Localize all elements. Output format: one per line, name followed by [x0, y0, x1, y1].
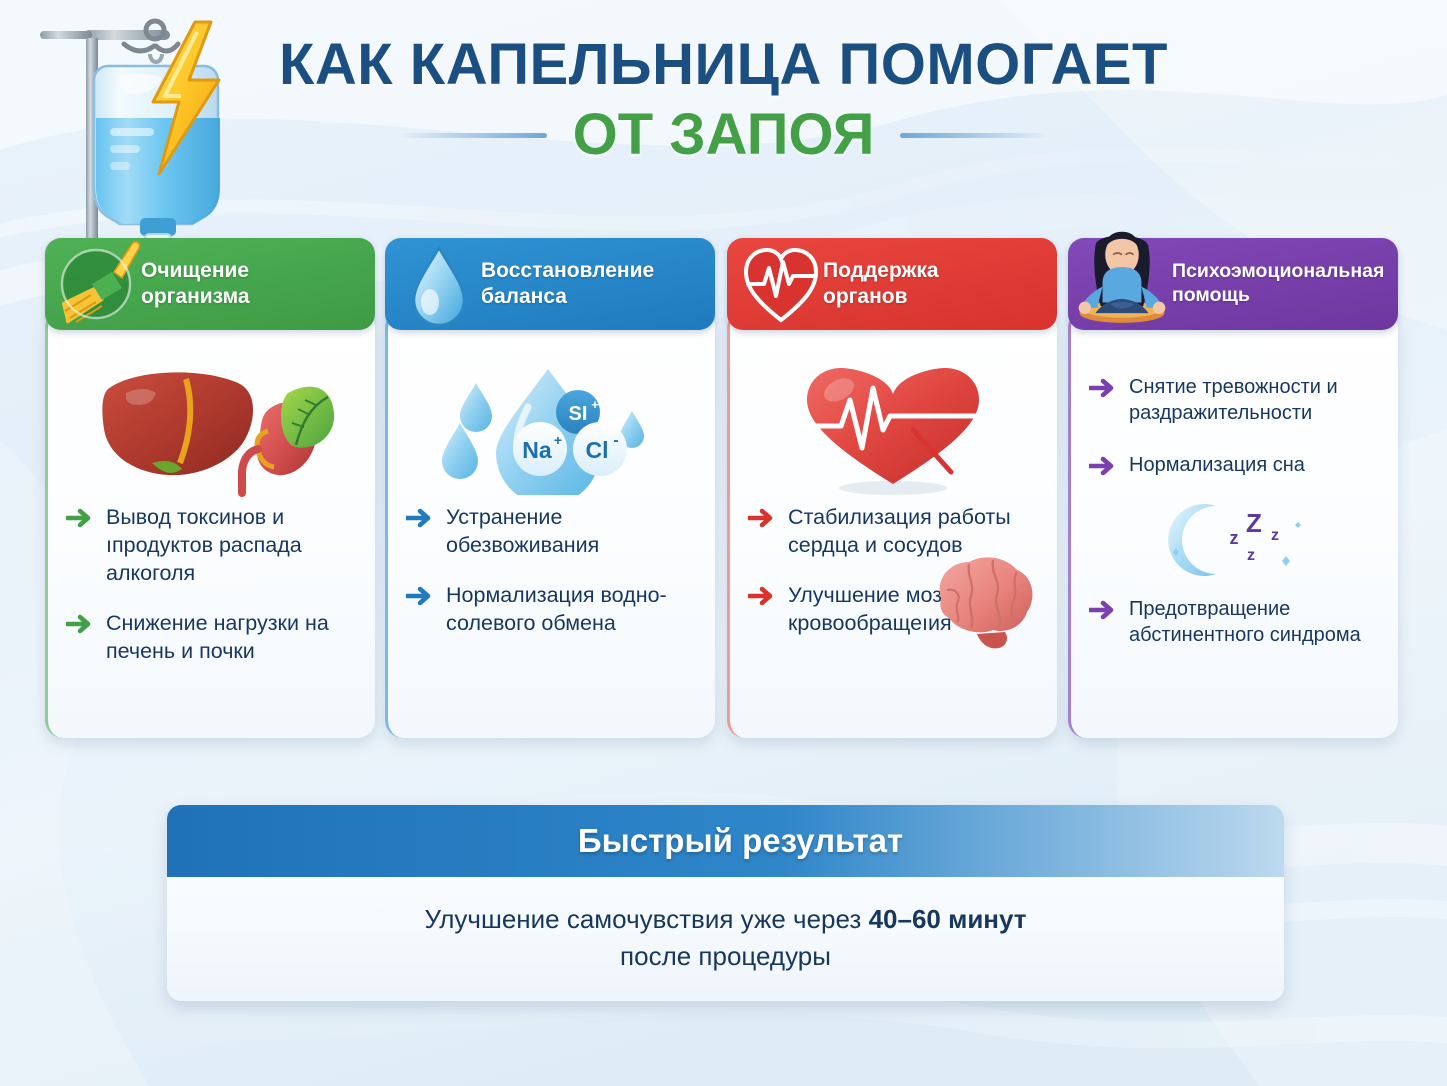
card-psycho-header: Психоэмоциональнаяпомощь [1068, 238, 1398, 330]
electrolyte-droplets-illustration: SI + Na + Cl - [402, 356, 699, 504]
lightning-bolt-icon [137, 18, 233, 178]
card-cleansing-title: Очищениеорганизма [141, 258, 250, 309]
bullet-text: Нормализация водно-солевого обмена [446, 582, 695, 638]
svg-text:-: - [613, 432, 618, 449]
arrow-right-icon [748, 508, 776, 528]
banner-text: Улучшение самочувствия уже через 40–60 м… [167, 877, 1284, 975]
heart-pulse-icon [735, 224, 827, 330]
bullet-item: Нормализация сна [1089, 452, 1378, 478]
bullet-item: Снижение нагрузки на печень и почки [66, 610, 355, 666]
card-psycho-title: Психоэмоциональнаяпомощь [1172, 260, 1384, 308]
card-balance-header: Восстановлениебаланса [385, 238, 715, 330]
arrow-right-icon [406, 508, 434, 528]
card-balance-title: Восстановлениебаланса [481, 258, 654, 309]
meditating-woman-icon [1076, 224, 1168, 330]
water-drop-icon [393, 224, 485, 330]
card-psycho-body: Снятие тревожности и раздражительности Н… [1068, 310, 1398, 738]
title-rule-right [900, 133, 1050, 138]
bullet-item: Снятие тревожности и раздражительности [1089, 374, 1378, 426]
bullet-text: Предотвращение абстинентного синдрома [1129, 596, 1378, 648]
bullet-item: Устранение обезвоживания [406, 504, 695, 560]
liver-kidney-leaf-illustration [62, 356, 359, 504]
benefit-cards: Очищениеорганизма [0, 238, 1447, 748]
bullet-item: Вывод токсинов и ıпродуктов распада алко… [66, 504, 355, 588]
banner-header: Быстрый результат [167, 805, 1284, 877]
title-rule-left [397, 133, 547, 138]
card-organs-title: Поддержкаорганов [823, 258, 939, 309]
card-balance-body: SI + Na + Cl - Устран [385, 310, 715, 738]
bullet-item: Улучшение мозгового кровообращеıия [748, 582, 1037, 638]
card-psycho[interactable]: Психоэмоциональнаяпомощь Снятие тревожно… [1068, 238, 1398, 738]
brain-illustration [923, 550, 1041, 654]
card-organs-body: Стабилизация работы сердца и сосудов Улу… [727, 310, 1057, 738]
svg-text:SI: SI [568, 403, 587, 425]
card-balance[interactable]: Восстановлениебаланса [385, 238, 715, 738]
svg-text:Z: Z [1246, 508, 1262, 538]
card-cleansing-body: Вывод токсинов и ıпродуктов распада алко… [45, 310, 375, 738]
arrow-right-icon [66, 614, 94, 634]
banner-title: Быстрый результат [578, 822, 903, 860]
bullet-text: Снятие тревожности и раздражительности [1129, 374, 1378, 426]
heart-heartbeat-illustration [744, 356, 1041, 504]
banner-text-after: после процедуры [167, 938, 1284, 975]
svg-text:Cl: Cl [585, 437, 608, 463]
card-organs[interactable]: Поддержкаорганов [727, 238, 1057, 738]
bullet-item: Предотвращение абстинентного синдрома [1089, 596, 1378, 648]
title-line-2: ОТ ЗАПОЯ [573, 106, 875, 164]
sleeping-moon-zzz-illustration: Z z z z [1089, 496, 1378, 582]
fast-result-banner: Быстрый результат Улучшение самочувствия… [167, 805, 1284, 1001]
card-organs-header: Поддержкаорганов [727, 238, 1057, 330]
bullet-text: Снижение нагрузки на печень и почки [106, 610, 355, 666]
card-cleansing[interactable]: Очищениеорганизма [45, 238, 375, 738]
arrow-right-icon [1089, 600, 1117, 620]
svg-text:+: + [591, 397, 599, 412]
banner-duration: 40–60 минут [869, 904, 1027, 934]
arrow-right-icon [1089, 456, 1117, 476]
card-cleansing-header: Очищениеорганизма [45, 238, 375, 330]
arrow-right-icon [66, 508, 94, 528]
arrow-right-icon [406, 586, 434, 606]
bullet-text: Устранение обезвоживания [446, 504, 695, 560]
broom-icon [53, 224, 145, 330]
svg-text:z: z [1247, 547, 1255, 564]
svg-text:z: z [1229, 528, 1238, 548]
bullet-text: Нормализация сна [1129, 452, 1305, 478]
svg-text:+: + [553, 432, 561, 448]
bullet-text: Вывод токсинов и ıпродуктов распада алко… [106, 504, 355, 588]
arrow-right-icon [1089, 378, 1117, 398]
banner-text-before: Улучшение самочувствия уже через [424, 904, 868, 934]
arrow-right-icon [748, 586, 776, 606]
svg-text:z: z [1271, 527, 1279, 544]
svg-text:Na: Na [522, 437, 552, 463]
bullet-item: Нормализация водно-солевого обмена [406, 582, 695, 638]
